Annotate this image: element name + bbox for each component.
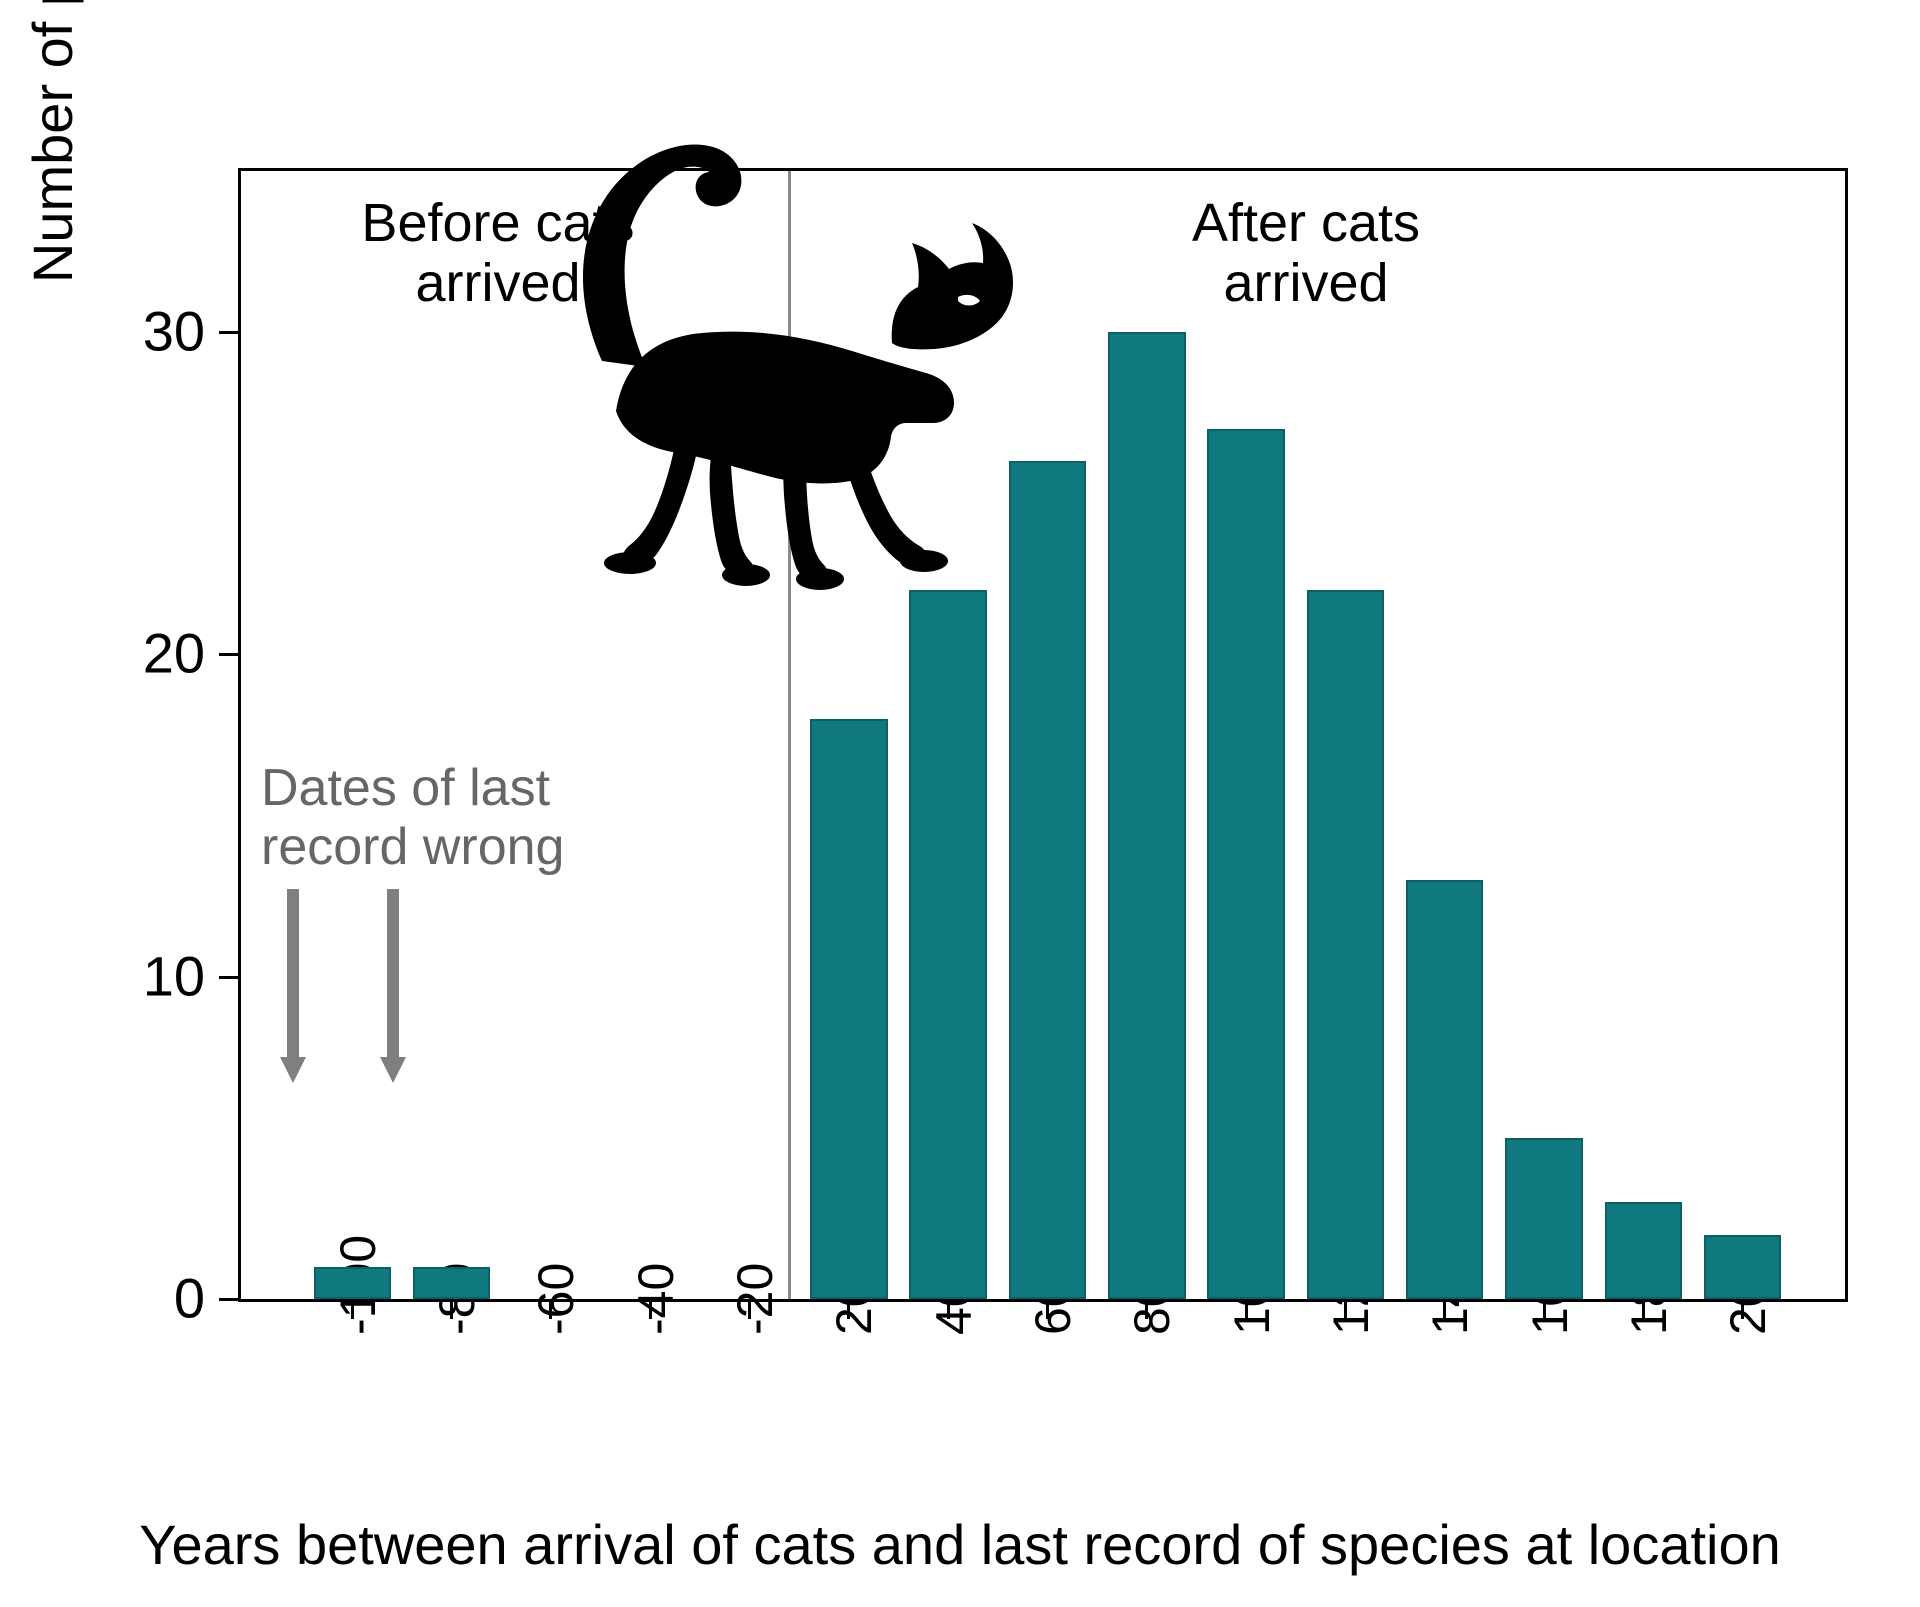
annotation-before-cats: Before cats arrived bbox=[263, 193, 733, 314]
annotation-dates-wrong: Dates of last record wrong bbox=[261, 759, 731, 878]
bar bbox=[1108, 332, 1185, 1299]
x-axis-tick: -40 bbox=[649, 1299, 652, 1319]
x-axis-tick: -20 bbox=[748, 1299, 751, 1319]
bar bbox=[1505, 1138, 1582, 1299]
x-axis-title: Years between arrival of cats and last r… bbox=[0, 1512, 1920, 1577]
x-axis-tick: 20 bbox=[847, 1299, 850, 1319]
x-axis-tick-label: -60 bbox=[527, 1263, 585, 1335]
arrow-shaft bbox=[387, 889, 399, 1057]
annotation-after-cats: After cats arrived bbox=[1071, 193, 1541, 314]
y-axis-tick-label: 30 bbox=[143, 299, 205, 364]
y-axis-title: Number of populations lost bbox=[18, 0, 88, 400]
y-axis-tick: 30 bbox=[219, 331, 241, 334]
x-axis-tick: 160 bbox=[1543, 1299, 1546, 1319]
x-axis-tick: 120 bbox=[1344, 1299, 1347, 1319]
plot-area: 0102030 -100-80-60-40-202040608010012014… bbox=[238, 168, 1848, 1302]
x-axis-tick: 100 bbox=[1245, 1299, 1248, 1319]
y-axis-tick: 20 bbox=[219, 653, 241, 656]
x-axis-tick: 140 bbox=[1443, 1299, 1446, 1319]
bar bbox=[1406, 880, 1483, 1299]
bar bbox=[413, 1267, 490, 1299]
bar bbox=[1009, 461, 1086, 1299]
y-axis-tick-label: 10 bbox=[143, 943, 205, 1008]
x-axis-tick: 80 bbox=[1145, 1299, 1148, 1319]
x-axis-tick: -100 bbox=[351, 1299, 354, 1319]
x-axis-tick: 200 bbox=[1741, 1299, 1744, 1319]
arrow-to-bar-minus80 bbox=[380, 889, 406, 1084]
bar bbox=[314, 1267, 391, 1299]
arrow-head bbox=[280, 1057, 306, 1083]
figure: Number of populations lost 0102030 -100-… bbox=[0, 0, 1920, 1607]
arrow-head bbox=[380, 1057, 406, 1083]
arrow-to-bar-minus100 bbox=[280, 889, 306, 1084]
y-axis-tick: 0 bbox=[219, 1298, 241, 1301]
x-axis-tick: 60 bbox=[1046, 1299, 1049, 1319]
zero-divider-line bbox=[788, 171, 791, 1299]
x-axis-tick: -80 bbox=[450, 1299, 453, 1319]
x-axis-tick: 180 bbox=[1642, 1299, 1645, 1319]
x-axis-tick: -60 bbox=[549, 1299, 552, 1319]
arrow-shaft bbox=[287, 889, 299, 1057]
x-axis-tick: 40 bbox=[947, 1299, 950, 1319]
x-axis-tick-label: -40 bbox=[627, 1263, 685, 1335]
y-axis-tick: 10 bbox=[219, 976, 241, 979]
bar bbox=[909, 590, 986, 1299]
bar bbox=[1207, 429, 1284, 1299]
y-axis-tick-label: 20 bbox=[143, 621, 205, 686]
x-axis-tick-label: -20 bbox=[726, 1263, 784, 1335]
y-axis-tick-label: 0 bbox=[174, 1266, 205, 1331]
bar bbox=[1605, 1202, 1682, 1299]
black-cat-silhouette-icon bbox=[506, 111, 1026, 591]
bar bbox=[1704, 1235, 1781, 1299]
bar bbox=[810, 719, 887, 1299]
bar bbox=[1307, 590, 1384, 1299]
